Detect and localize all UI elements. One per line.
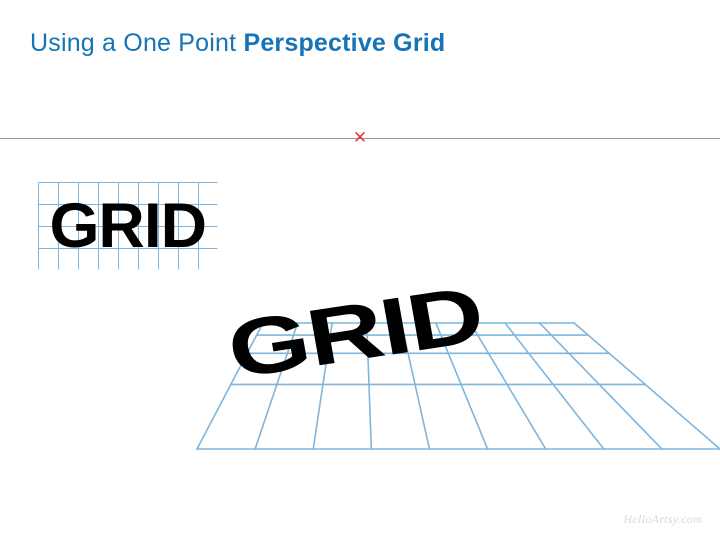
flat-grid-box	[38, 182, 218, 270]
page-title: Using a One Point Perspective Grid	[30, 29, 445, 58]
perspective-grid-lines	[0, 300, 720, 480]
perspective-grid-plane	[0, 300, 720, 480]
footer-credit: HelloArtsy.com	[623, 512, 702, 527]
vanishing-point-x-icon: ✕	[352, 130, 368, 146]
flat-grid-lines	[38, 182, 218, 270]
page-title-normal: Using a One Point	[30, 29, 243, 57]
page-title-bold: Perspective Grid	[243, 29, 445, 57]
slide-canvas: Using a One Point Perspective Grid ✕ GRI…	[0, 0, 720, 540]
